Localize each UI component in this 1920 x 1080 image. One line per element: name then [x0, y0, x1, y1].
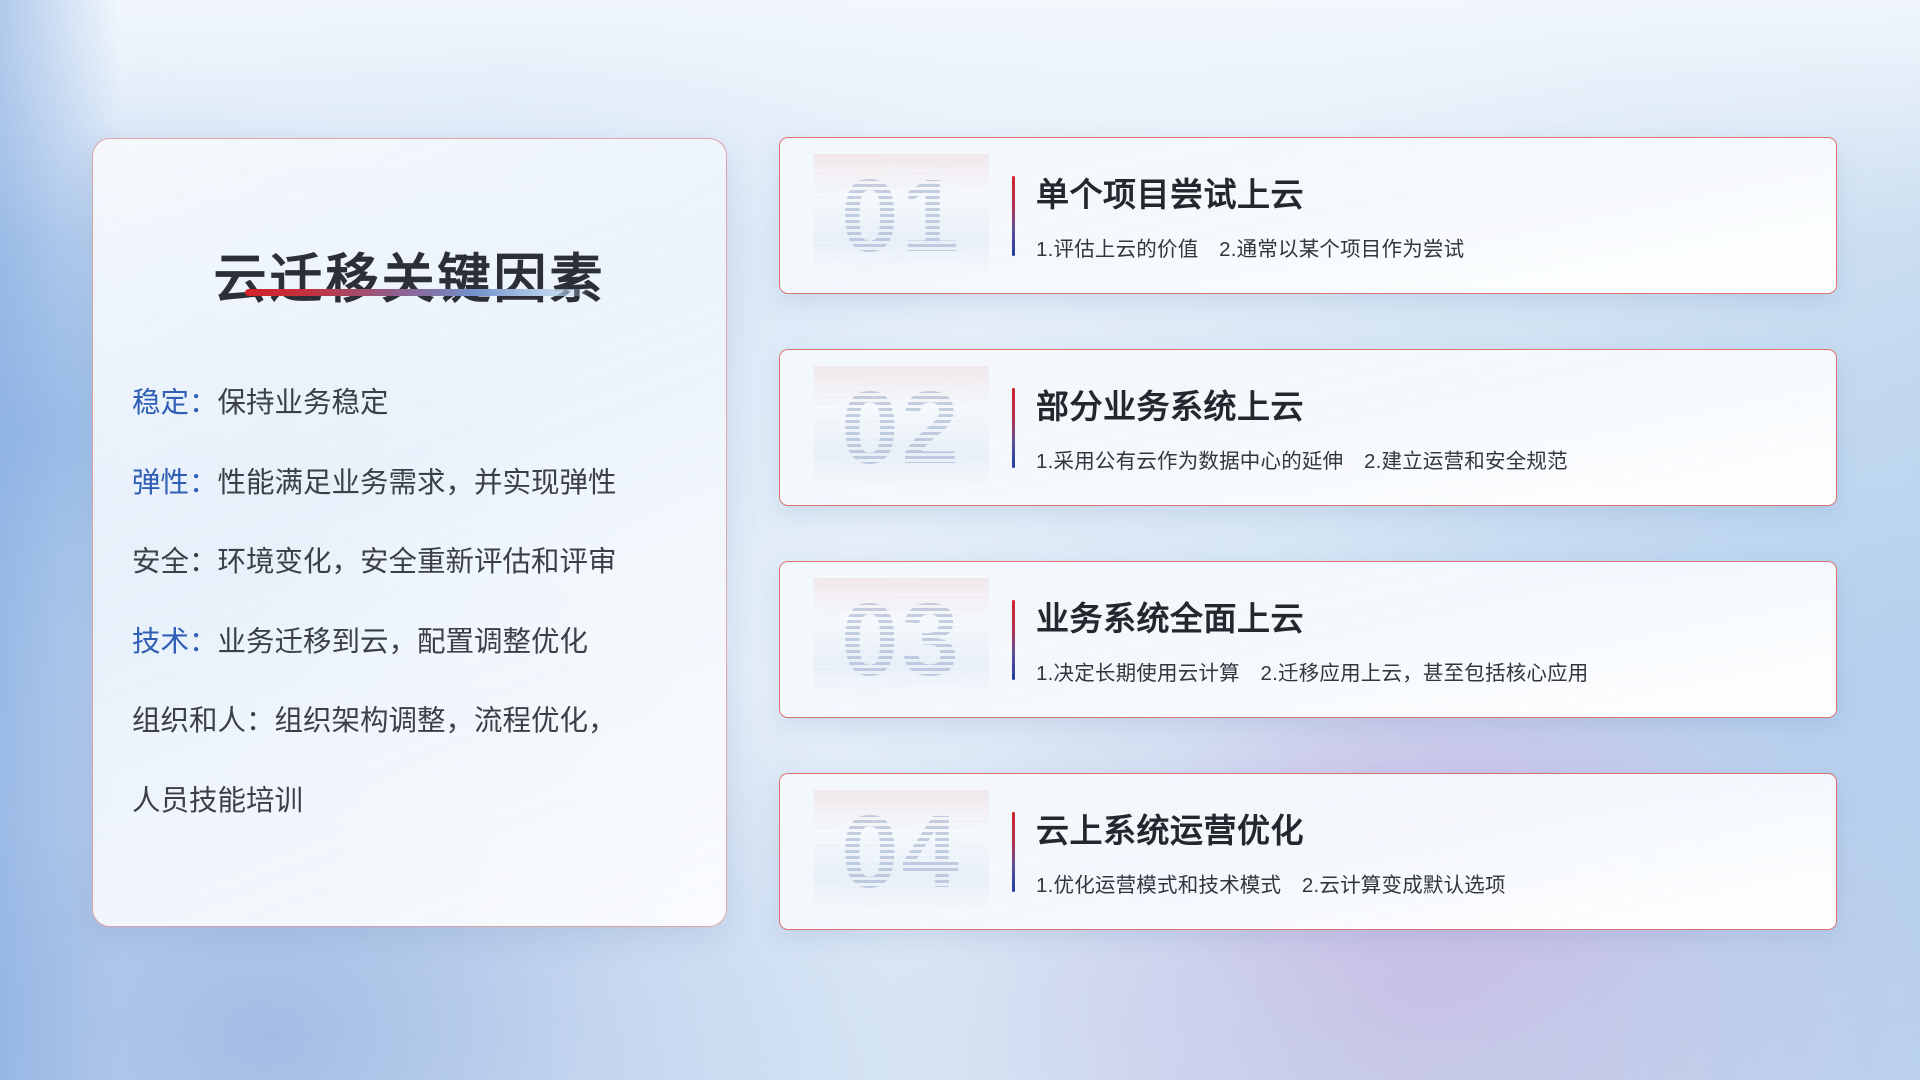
stage-card-03[interactable]: 03 业务系统全面上云 1.决定长期使用云计算 2.迁移应用上云，甚至包括核心应…	[779, 561, 1837, 718]
list-item-value: 组织架构调整，流程优化，	[275, 705, 617, 737]
list-item-key: 安全：	[132, 546, 218, 578]
card-divider-bar	[1012, 388, 1015, 468]
card-subtitle: 1.采用公有云作为数据中心的延伸 2.建立运营和安全规范	[1036, 444, 1812, 474]
stage-number-tint	[814, 790, 989, 914]
stage-number-watermark: 01	[814, 154, 989, 278]
list-item-value: 业务迁移到云，配置调整优化	[218, 626, 589, 658]
key-factors-list: 稳定：保持业务稳定 弹性：性能满足业务需求，并实现弹性 安全：环境变化，安全重新…	[132, 389, 702, 815]
card-divider-bar	[1012, 600, 1015, 680]
list-item-continuation: 人员技能培训	[132, 787, 702, 816]
card-title: 部分业务系统上云	[1036, 380, 1812, 428]
list-item: 稳定：保持业务稳定	[132, 389, 702, 418]
stage-number-watermark: 04	[814, 790, 989, 914]
card-subtitle: 1.评估上云的价值 2.通常以某个项目作为尝试	[1036, 232, 1812, 262]
list-item: 组织和人：组织架构调整，流程优化，	[132, 707, 702, 736]
stage-card-01[interactable]: 01 单个项目尝试上云 1.评估上云的价值 2.通常以某个项目作为尝试	[779, 137, 1837, 294]
stage-number-tint	[814, 154, 989, 278]
page-title: 云迁移关键因素	[93, 237, 726, 313]
slide-canvas: 云迁移关键因素 稳定：保持业务稳定 弹性：性能满足业务需求，并实现弹性 安全：环…	[0, 0, 1920, 1080]
key-factors-panel: 云迁移关键因素 稳定：保持业务稳定 弹性：性能满足业务需求，并实现弹性 安全：环…	[92, 138, 727, 927]
card-body: 单个项目尝试上云 1.评估上云的价值 2.通常以某个项目作为尝试	[1036, 168, 1812, 262]
stage-number-tint	[814, 366, 989, 490]
card-divider-bar	[1012, 176, 1015, 256]
list-item-value: 环境变化，安全重新评估和评审	[218, 546, 617, 578]
list-item: 技术：业务迁移到云，配置调整优化	[132, 628, 702, 657]
stage-number-watermark: 02	[814, 366, 989, 490]
list-item-value: 性能满足业务需求，并实现弹性	[218, 467, 617, 499]
card-title: 业务系统全面上云	[1036, 592, 1812, 640]
card-subtitle: 1.优化运营模式和技术模式 2.云计算变成默认选项	[1036, 868, 1812, 898]
card-body: 云上系统运营优化 1.优化运营模式和技术模式 2.云计算变成默认选项	[1036, 804, 1812, 898]
card-body: 部分业务系统上云 1.采用公有云作为数据中心的延伸 2.建立运营和安全规范	[1036, 380, 1812, 474]
list-item-key: 组织和人：	[132, 705, 275, 737]
list-item-value: 保持业务稳定	[218, 387, 389, 419]
list-item-key: 技术：	[132, 626, 218, 658]
list-item-key: 稳定：	[132, 387, 218, 419]
card-subtitle: 1.决定长期使用云计算 2.迁移应用上云，甚至包括核心应用	[1036, 656, 1812, 686]
list-item-value: 人员技能培训	[132, 785, 303, 817]
card-title: 单个项目尝试上云	[1036, 168, 1812, 216]
stage-number-watermark: 03	[814, 578, 989, 702]
list-item-key: 弹性：	[132, 467, 218, 499]
stage-cards-list: 01 单个项目尝试上云 1.评估上云的价值 2.通常以某个项目作为尝试 02 部…	[779, 137, 1837, 930]
card-body: 业务系统全面上云 1.决定长期使用云计算 2.迁移应用上云，甚至包括核心应用	[1036, 592, 1812, 686]
stage-card-04[interactable]: 04 云上系统运营优化 1.优化运营模式和技术模式 2.云计算变成默认选项	[779, 773, 1837, 930]
stage-number-tint	[814, 578, 989, 702]
title-underline-rule	[245, 289, 590, 296]
card-title: 云上系统运营优化	[1036, 804, 1812, 852]
list-item: 弹性：性能满足业务需求，并实现弹性	[132, 469, 702, 498]
list-item: 安全：环境变化，安全重新评估和评审	[132, 548, 702, 577]
card-divider-bar	[1012, 812, 1015, 892]
stage-card-02[interactable]: 02 部分业务系统上云 1.采用公有云作为数据中心的延伸 2.建立运营和安全规范	[779, 349, 1837, 506]
